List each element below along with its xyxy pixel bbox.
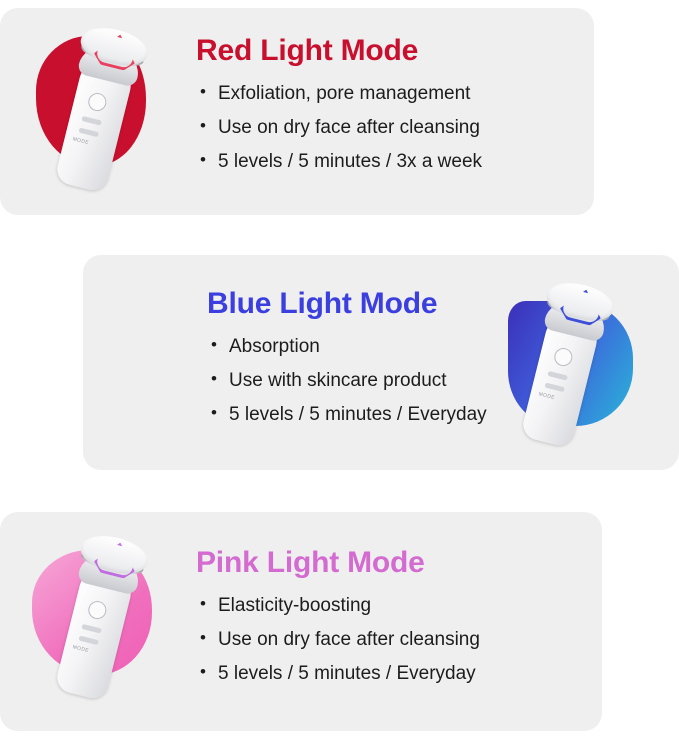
product-feature-page: MODE Red Light Mode Exfoliation, pore ma… [0, 0, 679, 739]
card-title-pink: Pink Light Mode [196, 546, 586, 580]
device-illustration-pink: MODE [22, 530, 192, 710]
feature-card-red: MODE Red Light Mode Exfoliation, pore ma… [0, 8, 594, 215]
list-item: Use on dry face after cleansing [196, 630, 586, 649]
feature-text-red: Red Light Mode Exfoliation, pore managem… [196, 34, 576, 171]
list-item: Exfoliation, pore management [196, 84, 576, 103]
feature-card-pink: MODE Pink Light Mode Elasticity-boosting… [0, 512, 602, 731]
list-item: 5 levels / 5 minutes / 3x a week [196, 152, 576, 171]
bullet-list-pink: Elasticity-boosting Use on dry face afte… [196, 596, 586, 683]
card-title-red: Red Light Mode [196, 34, 576, 68]
list-item: Use on dry face after cleansing [196, 118, 576, 137]
feature-card-blue: Blue Light Mode Absorption Use with skin… [83, 255, 679, 470]
device-illustration-red: MODE [22, 22, 192, 202]
list-item: Elasticity-boosting [196, 596, 586, 615]
bullet-list-red: Exfoliation, pore management Use on dry … [196, 84, 576, 171]
list-item: 5 levels / 5 minutes / Everyday [196, 664, 586, 683]
feature-text-pink: Pink Light Mode Elasticity-boosting Use … [196, 546, 586, 683]
device-illustration-blue: MODE [488, 277, 658, 457]
